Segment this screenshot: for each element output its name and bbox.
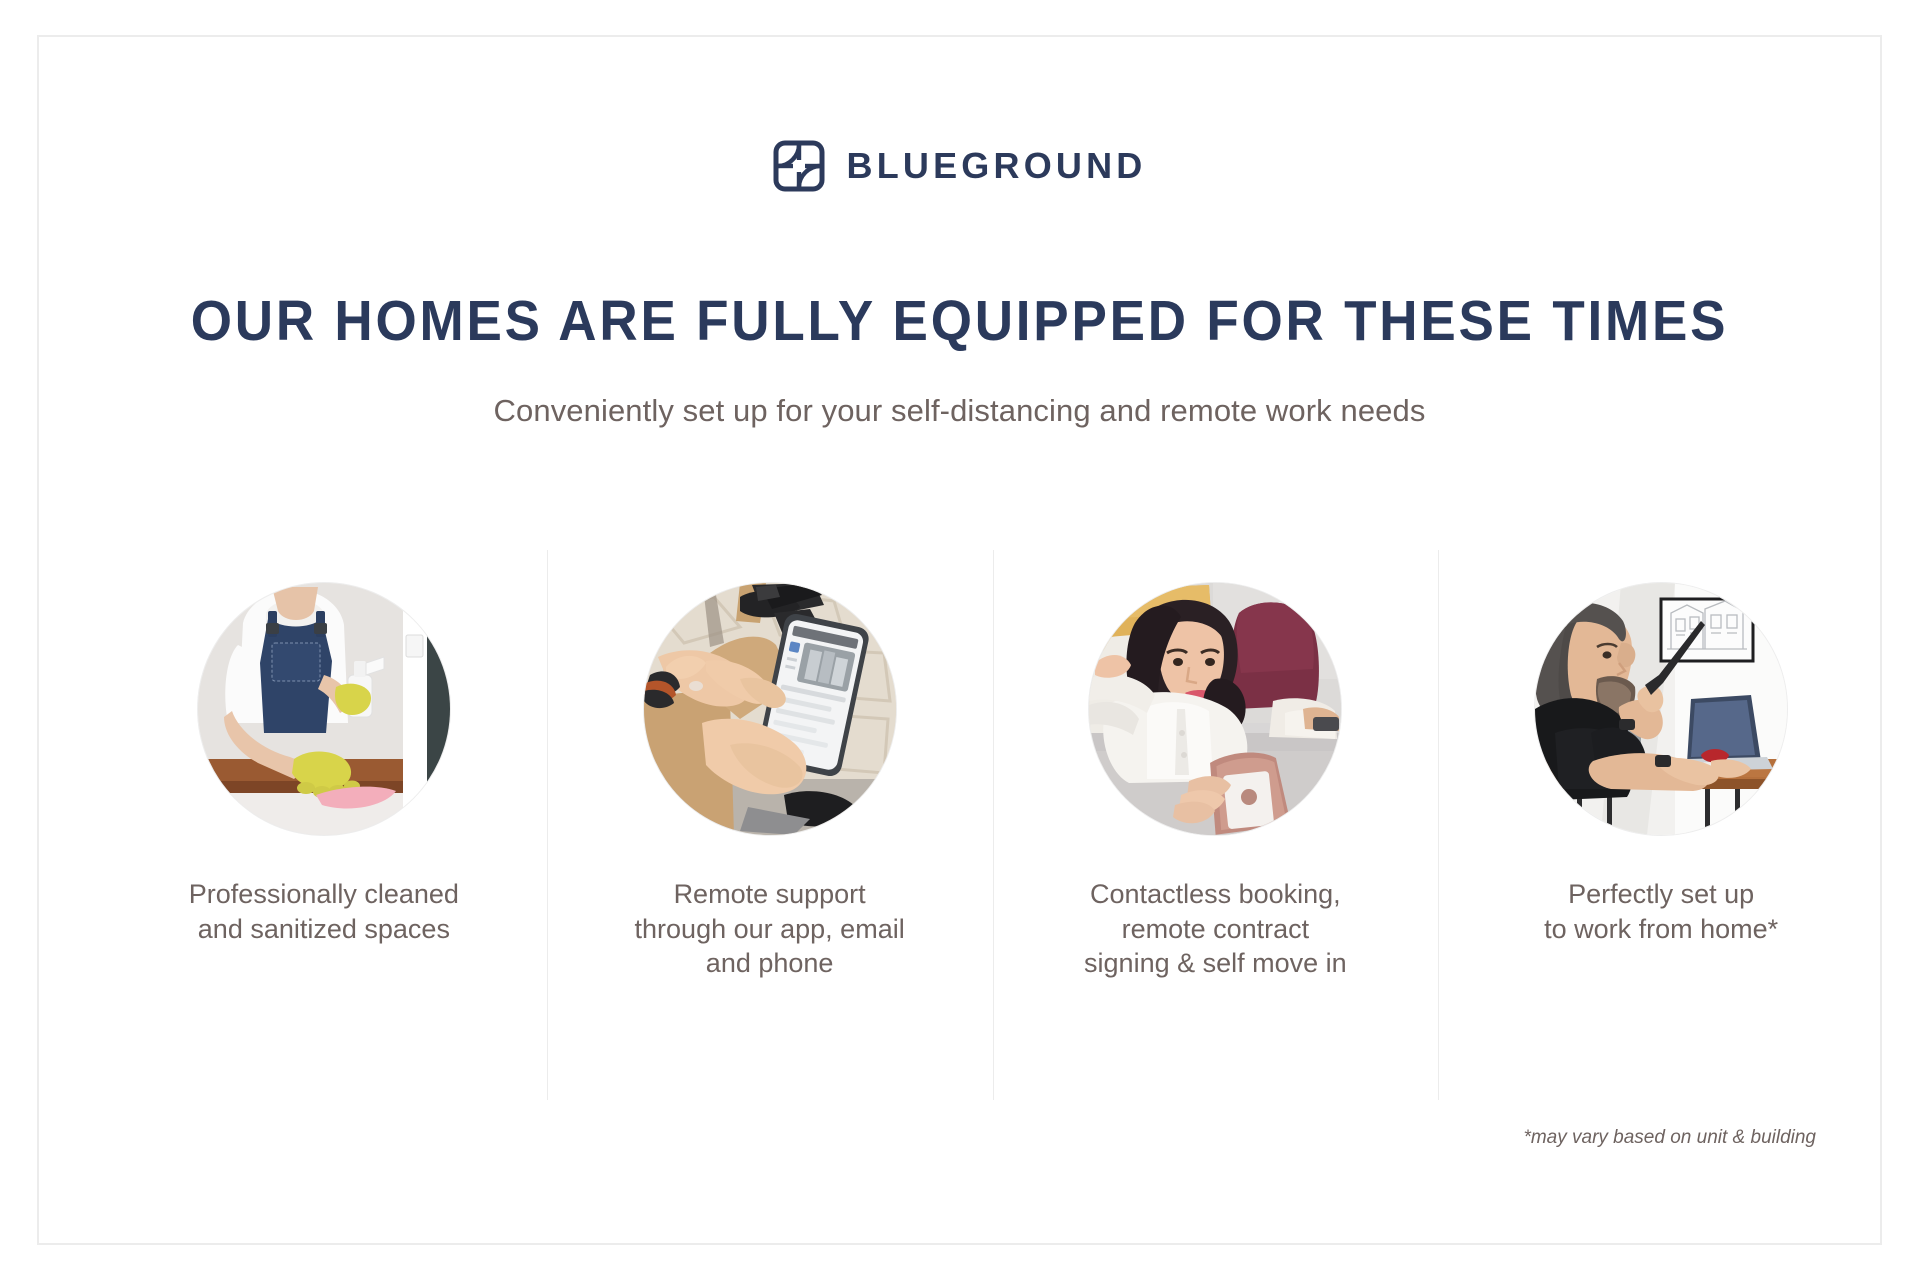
photo-tablet-booking (1089, 583, 1341, 835)
footnote: *may vary based on unit & building (1523, 1127, 1816, 1149)
feature-columns: Professionally cleaned and sanitized spa… (101, 550, 1884, 1100)
blueground-square-icon (773, 140, 825, 192)
feature-column-wfh: Perfectly set up to work from home* (1438, 550, 1884, 1100)
photo-work-from-home (1535, 583, 1787, 835)
feature-caption-booking: Contactless booking, remote contract sig… (1084, 877, 1347, 981)
feature-column-cleaning: Professionally cleaned and sanitized spa… (101, 550, 547, 1100)
brand-wordmark: BLUEGROUND (847, 148, 1147, 184)
feature-column-support: Remote support through our app, email an… (547, 550, 993, 1100)
poster-card: BLUEGROUND OUR HOMES ARE FULLY EQUIPPED … (37, 35, 1882, 1245)
feature-caption-cleaning: Professionally cleaned and sanitized spa… (189, 877, 459, 946)
feature-column-booking: Contactless booking, remote contract sig… (993, 550, 1439, 1100)
photo-phone-support (644, 583, 896, 835)
photo-cleaning (198, 583, 450, 835)
page-subtitle: Conveniently set up for your self-distan… (39, 393, 1880, 429)
feature-caption-support: Remote support through our app, email an… (635, 877, 905, 981)
brand-logo: BLUEGROUND (39, 140, 1880, 192)
page-title: OUR HOMES ARE FULLY EQUIPPED FOR THESE T… (103, 292, 1815, 352)
feature-caption-wfh: Perfectly set up to work from home* (1544, 877, 1778, 946)
